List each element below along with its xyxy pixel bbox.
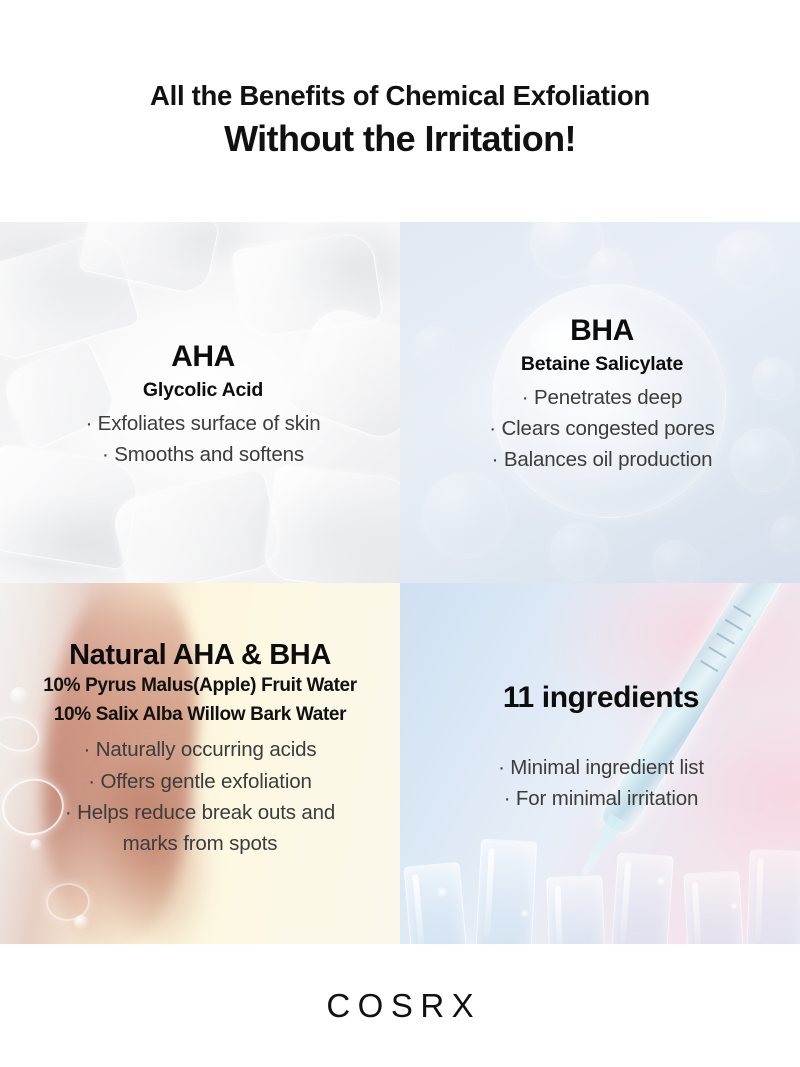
bha-title: BHA: [570, 314, 634, 349]
ingredient-count-title: 11 ingredients: [503, 681, 699, 716]
headline-primary: All the Benefits of Chemical Exfoliation: [150, 79, 650, 112]
header-banner: All the Benefits of Chemical Exfoliation…: [0, 0, 800, 222]
aha-benefit-list: · Exfoliates surface of skin · Smooths a…: [85, 408, 320, 470]
quadrant-bha: BHA Betaine Salicylate · Penetrates deep…: [400, 222, 800, 583]
headline-secondary: Without the Irritation!: [224, 117, 576, 161]
list-item: · Smooths and softens: [85, 439, 320, 470]
list-item: marks from spots: [65, 828, 335, 859]
aha-subtitle: Glycolic Acid: [143, 378, 263, 403]
natural-ingredient-apple: 10% Pyrus Malus(Apple) Fruit Water: [43, 672, 357, 701]
quadrant-aha: AHA Glycolic Acid · Exfoliates surface o…: [0, 222, 400, 583]
list-item: · Clears congested pores: [489, 413, 714, 444]
footer-brand-bar: COSRX: [0, 944, 800, 1067]
natural-ingredient-willow: 10% Salix Alba Willow Bark Water: [54, 701, 346, 730]
list-item: · For minimal irritation: [498, 783, 704, 814]
list-item: · Naturally occurring acids: [65, 734, 335, 765]
list-item: · Helps reduce break outs and: [65, 797, 335, 828]
list-item: · Offers gentle exfoliation: [65, 766, 335, 797]
ingredient-benefit-list: · Minimal ingredient list · For minimal …: [498, 752, 704, 814]
bha-subtitle: Betaine Salicylate: [521, 352, 683, 377]
bha-benefit-list: · Penetrates deep · Clears congested por…: [489, 382, 714, 475]
benefits-grid: AHA Glycolic Acid · Exfoliates surface o…: [0, 222, 800, 944]
list-item: · Exfoliates surface of skin: [85, 408, 320, 439]
natural-benefit-list: · Naturally occurring acids · Offers gen…: [65, 734, 335, 859]
cosrx-logo: COSRX: [319, 987, 481, 1025]
quadrant-natural-aha-bha: Natural AHA & BHA 10% Pyrus Malus(Apple)…: [0, 583, 400, 944]
list-item: · Minimal ingredient list: [498, 752, 704, 783]
aha-title: AHA: [171, 340, 235, 375]
natural-title: Natural AHA & BHA: [69, 639, 331, 672]
list-item: · Penetrates deep: [489, 382, 714, 413]
quadrant-ingredient-count: 11 ingredients · Minimal ingredient list…: [400, 583, 800, 944]
list-item: · Balances oil production: [489, 444, 714, 475]
